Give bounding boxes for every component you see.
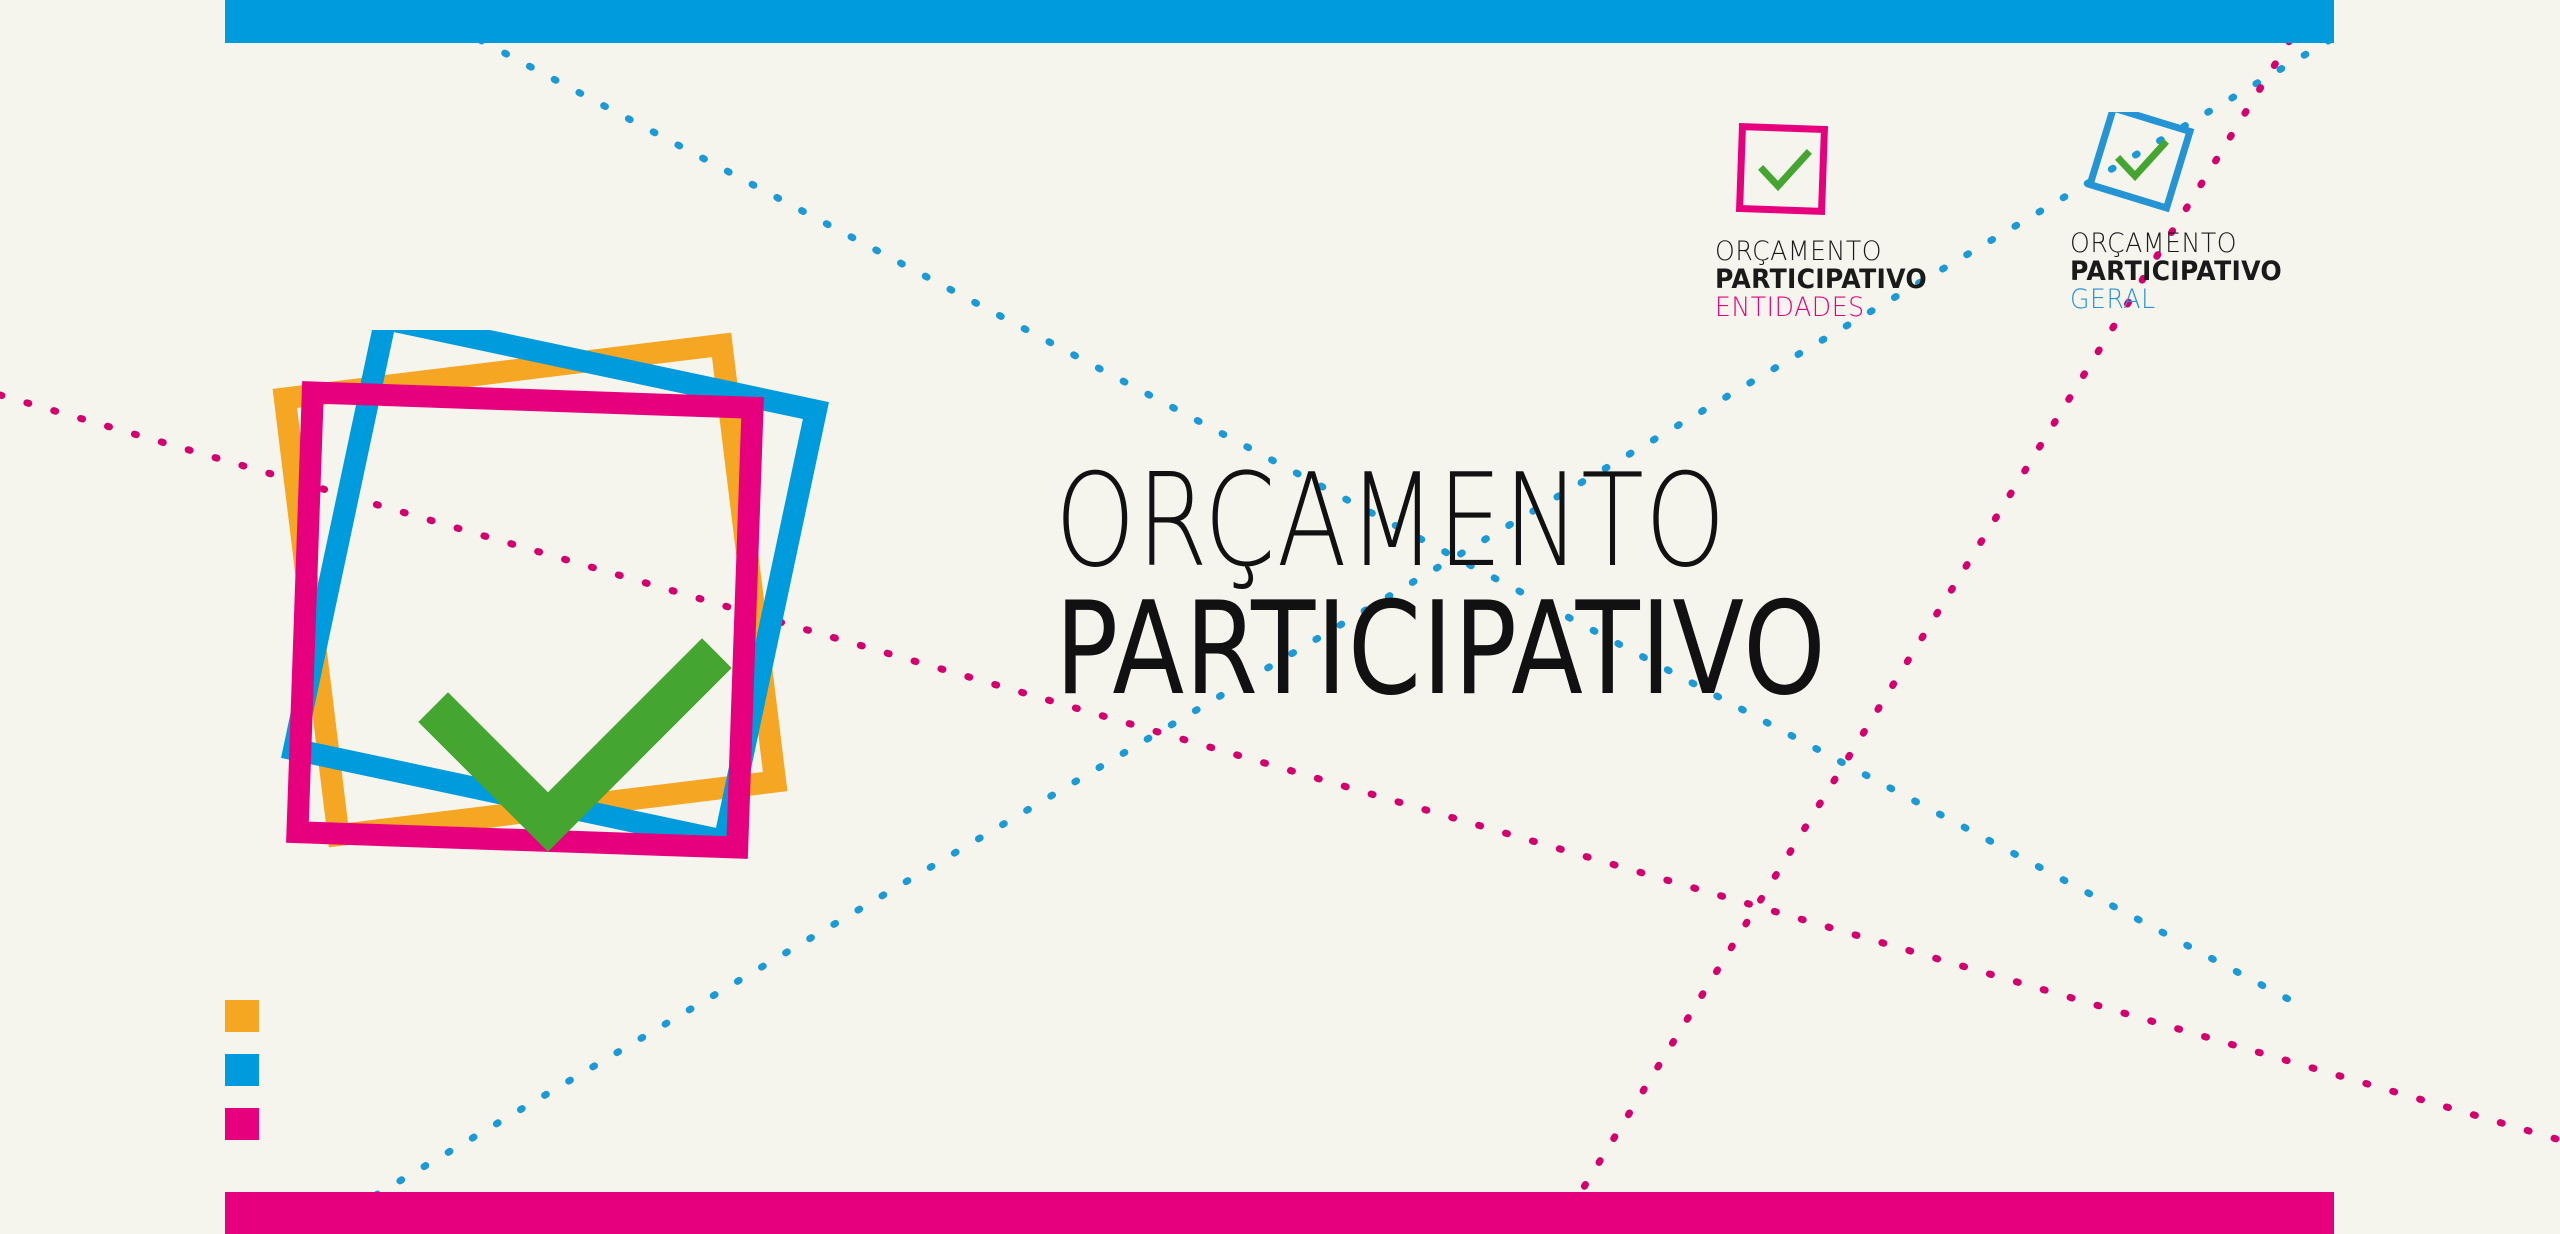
brand-text-entidades: ORÇAMENTO PARTICIPATIVO ENTIDADES [1715,238,1995,321]
square-blue-small [2090,112,2190,208]
brand-checkbox-geral [2086,112,2196,212]
brand-line-orcamento: ORÇAMENTO [1715,238,1975,266]
brand-checkbox-entidades [1731,120,1841,220]
brand-lockup-entidades[interactable]: ORÇAMENTO PARTICIPATIVO ENTIDADES [1715,120,1995,321]
brand-lockup-geral[interactable]: ORÇAMENTO PARTICIPATIVO GERAL [2070,112,2350,313]
title-line-participativo: PARTICIPATIVO [1055,590,2203,710]
swatch-blue [225,1054,259,1086]
top-accent-bar [225,0,2334,43]
swatch-magenta [225,1108,259,1140]
swatch-orange [225,1000,259,1032]
campaign-banner: ORÇAMENTO PARTICIPATIVO ORÇAMENTO PARTIC… [0,0,2560,1234]
hero-checkbox-mark [250,330,900,960]
brand-line-participativo: PARTICIPATIVO [1715,266,1975,294]
brand-line-orcamento: ORÇAMENTO [2070,230,2330,258]
check-icon [1763,154,1807,186]
square-magenta-small [1740,127,1825,212]
bottom-accent-bar [225,1192,2334,1234]
brand-line-variant: ENTIDADES [1715,294,1975,322]
page-title: ORÇAMENTO PARTICIPATIVO [1055,462,2455,711]
brand-line-variant: GERAL [2070,286,2330,314]
title-line-orcamento: ORÇAMENTO [1055,462,2175,582]
brand-line-participativo: PARTICIPATIVO [2070,258,2330,286]
check-icon [2120,144,2164,176]
color-swatch-stack [225,1000,259,1162]
brand-text-geral: ORÇAMENTO PARTICIPATIVO GERAL [2070,230,2350,313]
